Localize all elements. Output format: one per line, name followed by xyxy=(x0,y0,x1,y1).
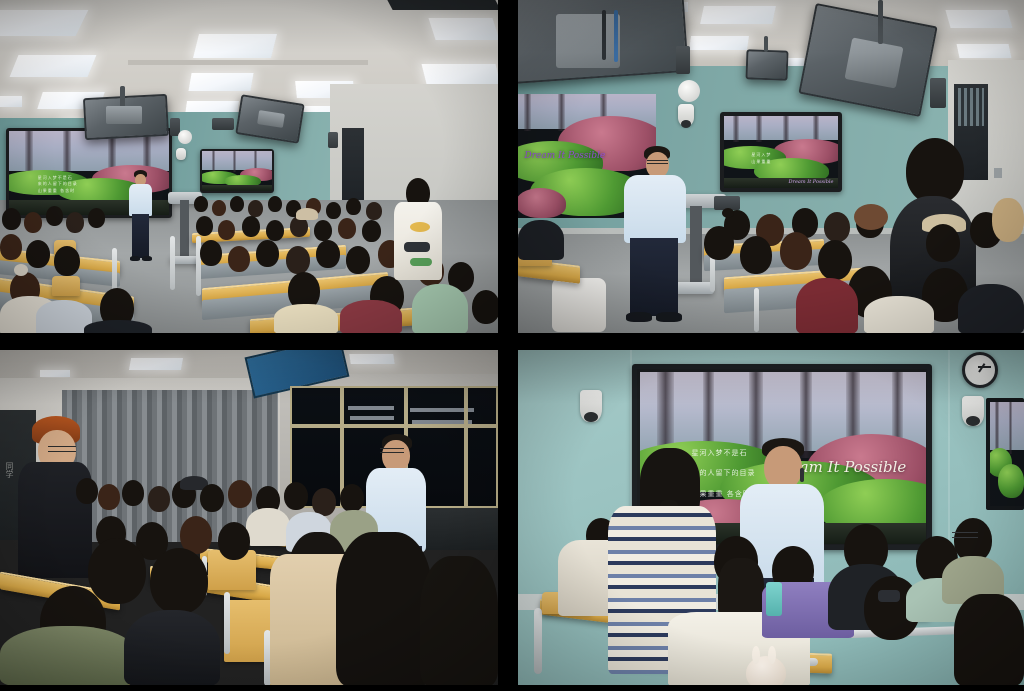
presenter-shoe xyxy=(656,312,682,322)
student-head xyxy=(150,548,208,614)
coat-graphic xyxy=(404,242,430,252)
student-head xyxy=(212,200,226,216)
student-head xyxy=(926,224,960,262)
camera-lens xyxy=(681,120,691,128)
slide-tree xyxy=(733,116,739,142)
ceiling-light xyxy=(188,73,253,91)
student-head xyxy=(24,212,42,233)
standing-student-coat xyxy=(394,202,442,280)
slide-overlay-text: Dream It Possible xyxy=(789,179,834,185)
student-head xyxy=(200,240,222,266)
seat-back xyxy=(52,276,80,296)
student-torso xyxy=(796,278,858,333)
dome-camera xyxy=(678,80,700,102)
presenter-trousers xyxy=(630,238,678,316)
student-hair-clip xyxy=(878,590,900,602)
student-head xyxy=(88,538,146,604)
student-head xyxy=(780,232,812,270)
student-head xyxy=(46,206,63,226)
student-head xyxy=(366,202,382,220)
student-head xyxy=(196,216,213,236)
aisle-railing xyxy=(170,236,175,290)
student-hair-long xyxy=(336,532,432,685)
slide-overlay-text: Dream It Possible xyxy=(524,151,605,161)
lower-wall-panel xyxy=(420,508,498,550)
student-head xyxy=(346,246,370,274)
student-head xyxy=(248,200,263,217)
student-head xyxy=(472,290,498,324)
collage-panel-top-right[interactable]: Dream It Possible 星河入梦 山果重重 Dream It Pos… xyxy=(518,0,1024,333)
ceiling-light xyxy=(422,64,498,84)
student-torso xyxy=(864,296,934,333)
student-head xyxy=(0,234,22,260)
student-torso xyxy=(246,508,290,546)
camera-lens xyxy=(584,412,598,422)
student-head xyxy=(228,480,252,508)
standing-student-glasses xyxy=(48,446,76,452)
slide-sky xyxy=(724,116,838,140)
presenter-shirt xyxy=(129,184,152,216)
seat-rail xyxy=(534,608,542,674)
slide-tree xyxy=(783,116,789,142)
seat-rail xyxy=(224,592,230,654)
student-head xyxy=(338,218,356,239)
lecturer-glasses xyxy=(380,448,404,453)
student-head xyxy=(346,198,361,215)
slide-shadow xyxy=(202,185,272,191)
slide-chinese-line: 来的人留下的目录 xyxy=(691,468,755,478)
presenter-trousers xyxy=(132,214,149,258)
student-head xyxy=(26,240,50,268)
plush-ear xyxy=(752,646,760,664)
monitor-mount-plate xyxy=(106,106,142,124)
podium-column xyxy=(690,206,702,288)
dome-camera xyxy=(178,130,192,144)
camera-lens xyxy=(966,416,980,426)
slide-chinese-line: 星河入梦 xyxy=(751,152,771,158)
student-curly-hair xyxy=(854,204,888,230)
slide-tree xyxy=(25,131,33,175)
ceiling-beam xyxy=(128,60,368,65)
collage-panel-top-left[interactable]: 星河入梦不是石 来的人留下的目录 山果重重 各含时 xyxy=(0,0,498,333)
student-torso xyxy=(274,304,338,333)
lecture-hall-wide-view: 星河入梦不是石 来的人留下的目录 山果重重 各含时 xyxy=(0,0,498,333)
ceiling-light xyxy=(0,96,22,107)
slide-chinese-line: 星河入梦不是石 xyxy=(38,175,73,181)
aisle-railing xyxy=(754,288,759,332)
student-head xyxy=(266,220,284,241)
student-head xyxy=(314,220,332,241)
slide-foliage xyxy=(518,188,566,218)
window-light-reflection xyxy=(348,406,394,410)
plush-ear xyxy=(768,646,776,664)
collage-panel-bottom-right[interactable]: 星河入梦不是石 来的人留下的目录 山果重重 各含时 Dream It Possi… xyxy=(518,350,1024,685)
student-head xyxy=(740,236,772,274)
coat-graphic xyxy=(410,258,432,266)
wall-speaker xyxy=(328,132,338,148)
student-torso xyxy=(340,300,402,333)
student-head xyxy=(88,208,105,228)
slide-chinese-line: 星河入梦不是石 xyxy=(691,448,747,458)
slide-chinese-line: 山果重重 各含时 xyxy=(38,188,75,194)
student-head xyxy=(316,240,340,268)
coat-graphic xyxy=(410,222,430,232)
lecture-hall-student-question: 同学 xyxy=(0,350,498,685)
slide-tree xyxy=(558,94,565,131)
podium-column xyxy=(180,200,189,260)
student-jacket-black xyxy=(124,610,220,685)
presenter-glasses xyxy=(647,160,668,164)
student-glasses xyxy=(952,532,978,538)
student-head xyxy=(54,246,80,276)
student-head xyxy=(284,482,308,510)
photo-top-shade xyxy=(0,0,498,53)
presenter-shoe xyxy=(130,256,140,261)
slide-tree xyxy=(756,116,762,142)
slide-tree xyxy=(233,151,237,172)
tote-bag xyxy=(552,278,606,332)
student-head xyxy=(122,480,144,506)
student-head xyxy=(326,202,341,219)
student-head xyxy=(824,212,850,242)
slide-tree xyxy=(995,402,998,454)
student-head xyxy=(218,522,250,560)
student-blonde-hair xyxy=(992,198,1024,242)
slide-tree xyxy=(524,94,531,131)
presenter-shirt xyxy=(624,175,686,243)
aisle-railing xyxy=(196,236,201,296)
student-head xyxy=(704,226,734,260)
student-head xyxy=(66,212,84,233)
slide-tree xyxy=(1009,402,1012,454)
student-torso xyxy=(518,220,564,260)
student-head xyxy=(76,478,98,504)
photo-top-shade xyxy=(0,350,498,404)
photo-top-shade xyxy=(518,0,1024,53)
student-head xyxy=(228,246,250,272)
student-cap xyxy=(296,208,318,220)
ceiling-projector xyxy=(745,49,788,80)
student-torso xyxy=(84,320,152,333)
presenter-shoe xyxy=(626,312,652,322)
lecture-hall-display-view: 星河入梦不是石 来的人留下的目录 山果重重 各含时 Dream It Possi… xyxy=(518,350,1024,685)
student-head xyxy=(148,486,170,512)
slide-tree xyxy=(63,131,71,175)
student-head xyxy=(362,220,381,242)
slide-chinese-line: 来的人留下的目录 xyxy=(38,181,78,187)
student-hair-long xyxy=(420,556,498,685)
student-head xyxy=(194,196,208,212)
side-display xyxy=(990,402,1024,506)
window-mullion xyxy=(290,424,498,428)
student-head xyxy=(268,196,282,212)
student-head xyxy=(230,196,244,212)
lecture-hall-speaker-closeup: Dream It Possible 星河入梦 山果重重 Dream It Pos… xyxy=(518,0,1024,333)
ceiling-projector xyxy=(212,118,234,130)
photo-top-shade xyxy=(518,350,1024,404)
student-head xyxy=(242,216,260,237)
student-head xyxy=(954,594,1024,685)
student-hair-bun xyxy=(14,264,28,276)
student-head xyxy=(218,220,235,240)
wall-display: 星河入梦 山果重重 Dream It Possible xyxy=(724,116,838,188)
student-head xyxy=(340,484,364,512)
student-head xyxy=(200,484,224,512)
wall-outlet xyxy=(994,168,1002,178)
door-bars xyxy=(958,88,984,126)
secondary-display xyxy=(202,151,272,191)
slide-moss xyxy=(998,464,1024,497)
security-camera xyxy=(176,148,186,160)
slide-chinese-line: 山果重重 xyxy=(751,159,771,165)
student-head xyxy=(818,240,852,280)
standing-student-head xyxy=(906,138,964,204)
student-head xyxy=(286,246,310,274)
student-jacket-olive xyxy=(0,626,136,685)
ceiling-light xyxy=(10,55,97,77)
slide-tree xyxy=(212,151,216,172)
collage-panel-bottom-left[interactable]: 同学 xyxy=(0,350,498,685)
wall-speaker xyxy=(930,78,946,108)
window-curtain xyxy=(62,390,278,542)
water-bottle xyxy=(766,582,782,616)
student-torso xyxy=(412,284,468,333)
presenter-mic xyxy=(800,468,804,482)
slide-tree xyxy=(813,116,819,142)
student-head xyxy=(98,484,120,510)
monitor-mount xyxy=(120,86,125,108)
window-light-reflection xyxy=(350,416,394,420)
wall-calligraphy-text: 同学 xyxy=(4,462,15,478)
photo-collage: 星河入梦不是石 来的人留下的目录 山果重重 各含时 xyxy=(0,0,1024,691)
student-head xyxy=(2,208,21,230)
student-head xyxy=(256,240,279,267)
student-torso xyxy=(958,284,1024,333)
presenter-shoe xyxy=(142,256,152,261)
window-mullion xyxy=(464,386,468,508)
student-hair-bun xyxy=(722,208,734,218)
